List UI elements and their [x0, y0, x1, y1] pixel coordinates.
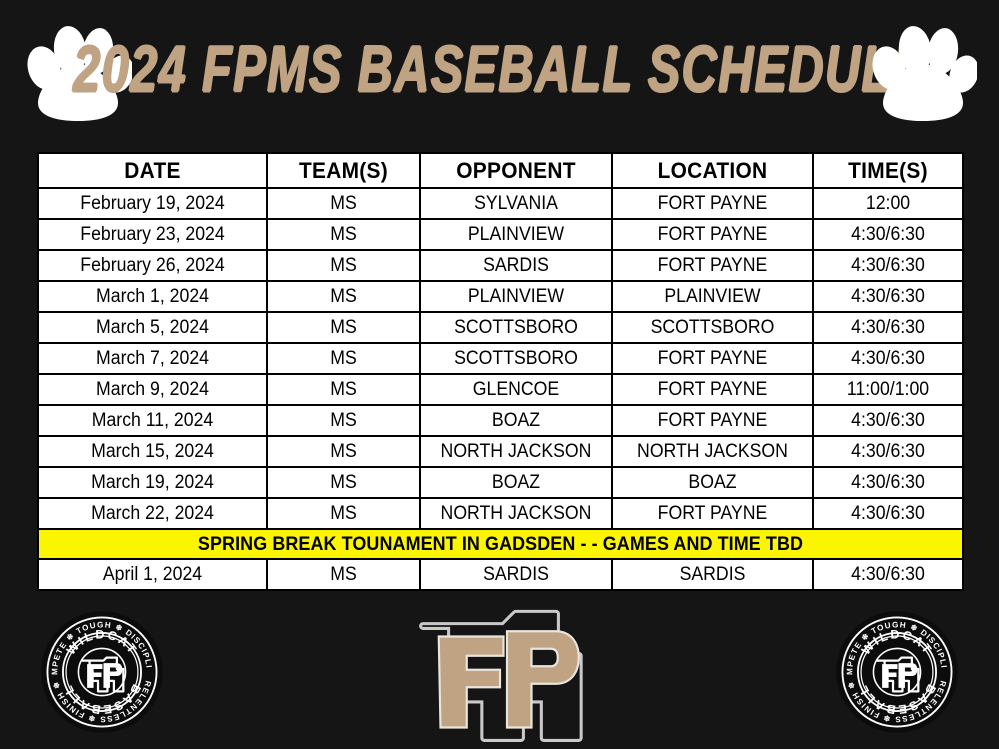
table-row: March 22, 2024MSNORTH JACKSONFORT PAYNE4… [38, 498, 963, 529]
cell-opponent: SCOTTSBORO [420, 312, 612, 343]
cell-time: 4:30/6:30 [813, 467, 963, 498]
cell-team: MS [267, 343, 420, 374]
cell-time-text: 4:30/6:30 [819, 348, 957, 370]
cell-location: FORT PAYNE [612, 374, 813, 405]
cell-date-text: March 1, 2024 [47, 286, 258, 308]
cell-team-text: MS [273, 193, 413, 215]
cell-team-text: MS [273, 503, 413, 525]
cell-location: PLAINVIEW [612, 281, 813, 312]
cell-location: FORT PAYNE [612, 188, 813, 219]
cell-opponent: NORTH JACKSON [420, 498, 612, 529]
table-row: April 1, 2024MSSARDISSARDIS4:30/6:30 [38, 559, 963, 590]
paw-print-icon [867, 20, 977, 125]
cell-location: FORT PAYNE [612, 343, 813, 374]
cell-team: MS [267, 498, 420, 529]
cell-team-text: MS [273, 286, 413, 308]
cell-location-text: PLAINVIEW [620, 286, 805, 308]
cell-time: 4:30/6:30 [813, 436, 963, 467]
cell-opponent: SARDIS [420, 559, 612, 590]
table-header-row: DATE TEAM(S) OPPONENT LOCATION TIME(S) [38, 153, 963, 188]
table-row: March 5, 2024MSSCOTTSBOROSCOTTSBORO4:30/… [38, 312, 963, 343]
cell-location: SCOTTSBORO [612, 312, 813, 343]
cell-team: MS [267, 559, 420, 590]
cell-time-text: 4:30/6:30 [819, 441, 957, 463]
cell-team-text: MS [273, 224, 413, 246]
table-row: March 1, 2024MSPLAINVIEWPLAINVIEW4:30/6:… [38, 281, 963, 312]
cell-team: MS [267, 312, 420, 343]
wildcat-baseball-seal-icon: COMPETE ❄ TOUGH ❄ DISCIPLINED RELENTLESS… [835, 610, 959, 734]
cell-date: February 19, 2024 [38, 188, 267, 219]
cell-team-text: MS [273, 348, 413, 370]
page-header: 2024 FPMS BASEBALL SCHEDULE [0, 0, 999, 140]
table-row: March 11, 2024MSBOAZFORT PAYNE4:30/6:30 [38, 405, 963, 436]
table-row: March 19, 2024MSBOAZBOAZ4:30/6:30 [38, 467, 963, 498]
cell-time-text: 4:30/6:30 [819, 410, 957, 432]
cell-opponent: SARDIS [420, 250, 612, 281]
cell-team: MS [267, 436, 420, 467]
cell-location: FORT PAYNE [612, 250, 813, 281]
table-row: February 23, 2024MSPLAINVIEWFORT PAYNE4:… [38, 219, 963, 250]
column-header-team: TEAM(S) [267, 153, 420, 188]
cell-opponent-text: SCOTTSBORO [428, 348, 605, 370]
cell-opponent: PLAINVIEW [420, 219, 612, 250]
cell-location-text: BOAZ [620, 472, 805, 494]
cell-time: 12:00 [813, 188, 963, 219]
cell-location-text: SCOTTSBORO [620, 317, 805, 339]
cell-location: FORT PAYNE [612, 219, 813, 250]
page-footer: COMPETE ❄ TOUGH ❄ DISCIPLINED RELENTLESS… [0, 600, 999, 749]
column-header-time-label: TIME(S) [818, 158, 959, 184]
table-row: March 9, 2024MSGLENCOEFORT PAYNE11:00/1:… [38, 374, 963, 405]
cell-date-text: February 19, 2024 [47, 193, 258, 215]
cell-date-text: February 26, 2024 [47, 255, 258, 277]
column-header-date: DATE [38, 153, 267, 188]
column-header-time: TIME(S) [813, 153, 963, 188]
cell-opponent-text: SYLVANIA [428, 193, 605, 215]
cell-team-text: MS [273, 379, 413, 401]
table-body: February 19, 2024MSSYLVANIAFORT PAYNE12:… [38, 188, 963, 590]
cell-time: 4:30/6:30 [813, 498, 963, 529]
cell-date: March 19, 2024 [38, 467, 267, 498]
cell-location-text: FORT PAYNE [620, 193, 805, 215]
cell-time: 4:30/6:30 [813, 559, 963, 590]
cell-location-text: NORTH JACKSON [620, 441, 805, 463]
table-row: March 7, 2024MSSCOTTSBOROFORT PAYNE4:30/… [38, 343, 963, 374]
cell-date: April 1, 2024 [38, 559, 267, 590]
cell-location-text: FORT PAYNE [620, 503, 805, 525]
cell-time: 4:30/6:30 [813, 219, 963, 250]
cell-time: 4:30/6:30 [813, 250, 963, 281]
cell-date-text: March 5, 2024 [47, 317, 258, 339]
cell-team: MS [267, 250, 420, 281]
cell-opponent-text: NORTH JACKSON [428, 441, 605, 463]
cell-location: BOAZ [612, 467, 813, 498]
cell-opponent: PLAINVIEW [420, 281, 612, 312]
cell-time-text: 4:30/6:30 [819, 286, 957, 308]
cell-time-text: 4:30/6:30 [819, 255, 957, 277]
cell-team: MS [267, 188, 420, 219]
cell-location: FORT PAYNE [612, 405, 813, 436]
cell-team: MS [267, 467, 420, 498]
wildcat-baseball-seal-icon: COMPETE ❄ TOUGH ❄ DISCIPLINED RELENTLESS… [40, 610, 164, 734]
cell-opponent-text: BOAZ [428, 410, 605, 432]
cell-team: MS [267, 374, 420, 405]
spring-break-banner: SPRING BREAK TOUNAMENT IN GADSDEN - - GA… [38, 529, 963, 559]
cell-opponent-text: SARDIS [428, 564, 605, 586]
column-header-location-label: LOCATION [618, 158, 807, 184]
cell-opponent-text: GLENCOE [428, 379, 605, 401]
cell-date: March 1, 2024 [38, 281, 267, 312]
cell-date-text: April 1, 2024 [47, 564, 258, 586]
cell-opponent-text: SCOTTSBORO [428, 317, 605, 339]
cell-date: March 7, 2024 [38, 343, 267, 374]
page-title: 2024 FPMS BASEBALL SCHEDULE [73, 33, 926, 107]
cell-team-text: MS [273, 564, 413, 586]
cell-opponent-text: PLAINVIEW [428, 224, 605, 246]
cell-time-text: 4:30/6:30 [819, 317, 957, 339]
table-row: February 26, 2024MSSARDISFORT PAYNE4:30/… [38, 250, 963, 281]
cell-date-text: March 19, 2024 [47, 472, 258, 494]
spring-break-banner-row: SPRING BREAK TOUNAMENT IN GADSDEN - - GA… [38, 529, 963, 559]
cell-date: March 9, 2024 [38, 374, 267, 405]
cell-team: MS [267, 281, 420, 312]
cell-date-text: March 9, 2024 [47, 379, 258, 401]
cell-time: 11:00/1:00 [813, 374, 963, 405]
cell-date-text: March 15, 2024 [47, 441, 258, 463]
cell-location-text: FORT PAYNE [620, 348, 805, 370]
cell-opponent: GLENCOE [420, 374, 612, 405]
cell-opponent: NORTH JACKSON [420, 436, 612, 467]
cell-team-text: MS [273, 317, 413, 339]
cell-location-text: SARDIS [620, 564, 805, 586]
cell-opponent-text: NORTH JACKSON [428, 503, 605, 525]
cell-date: March 22, 2024 [38, 498, 267, 529]
cell-team-text: MS [273, 441, 413, 463]
cell-time-text: 12:00 [819, 193, 957, 215]
cell-opponent-text: PLAINVIEW [428, 286, 605, 308]
spring-break-banner-text: SPRING BREAK TOUNAMENT IN GADSDEN - - GA… [76, 533, 925, 556]
table-header: DATE TEAM(S) OPPONENT LOCATION TIME(S) [38, 153, 963, 188]
cell-time-text: 4:30/6:30 [819, 472, 957, 494]
cell-date: February 23, 2024 [38, 219, 267, 250]
cell-date: March 11, 2024 [38, 405, 267, 436]
cell-team: MS [267, 219, 420, 250]
table-row: February 19, 2024MSSYLVANIAFORT PAYNE12:… [38, 188, 963, 219]
cell-opponent-text: BOAZ [428, 472, 605, 494]
cell-opponent: SCOTTSBORO [420, 343, 612, 374]
cell-opponent: SYLVANIA [420, 188, 612, 219]
table-row: March 15, 2024MSNORTH JACKSONNORTH JACKS… [38, 436, 963, 467]
cell-team-text: MS [273, 410, 413, 432]
column-header-location: LOCATION [612, 153, 813, 188]
column-header-team-label: TEAM(S) [272, 158, 415, 184]
cell-location: FORT PAYNE [612, 498, 813, 529]
cell-date: February 26, 2024 [38, 250, 267, 281]
cell-location-text: FORT PAYNE [620, 224, 805, 246]
cell-date-text: March 11, 2024 [47, 410, 258, 432]
cell-opponent: BOAZ [420, 405, 612, 436]
cell-date: March 15, 2024 [38, 436, 267, 467]
cell-time: 4:30/6:30 [813, 405, 963, 436]
fp-monogram-icon [410, 605, 590, 745]
cell-time: 4:30/6:30 [813, 343, 963, 374]
cell-team-text: MS [273, 255, 413, 277]
cell-time: 4:30/6:30 [813, 281, 963, 312]
cell-date-text: March 7, 2024 [47, 348, 258, 370]
cell-team-text: MS [273, 472, 413, 494]
cell-location: NORTH JACKSON [612, 436, 813, 467]
column-header-opponent: OPPONENT [420, 153, 612, 188]
cell-date-text: February 23, 2024 [47, 224, 258, 246]
cell-opponent-text: SARDIS [428, 255, 605, 277]
cell-location-text: FORT PAYNE [620, 255, 805, 277]
cell-time-text: 4:30/6:30 [819, 224, 957, 246]
cell-time-text: 11:00/1:00 [819, 379, 957, 401]
cell-time-text: 4:30/6:30 [819, 503, 957, 525]
cell-location-text: FORT PAYNE [620, 410, 805, 432]
cell-location: SARDIS [612, 559, 813, 590]
cell-location-text: FORT PAYNE [620, 379, 805, 401]
schedule-table-container: DATE TEAM(S) OPPONENT LOCATION TIME(S) F… [37, 152, 962, 591]
cell-opponent: BOAZ [420, 467, 612, 498]
cell-date-text: March 22, 2024 [47, 503, 258, 525]
schedule-table: DATE TEAM(S) OPPONENT LOCATION TIME(S) F… [37, 152, 964, 591]
cell-team: MS [267, 405, 420, 436]
column-header-date-label: DATE [45, 158, 261, 184]
cell-time: 4:30/6:30 [813, 312, 963, 343]
cell-date: March 5, 2024 [38, 312, 267, 343]
cell-time-text: 4:30/6:30 [819, 564, 957, 586]
column-header-opponent-label: OPPONENT [426, 158, 607, 184]
